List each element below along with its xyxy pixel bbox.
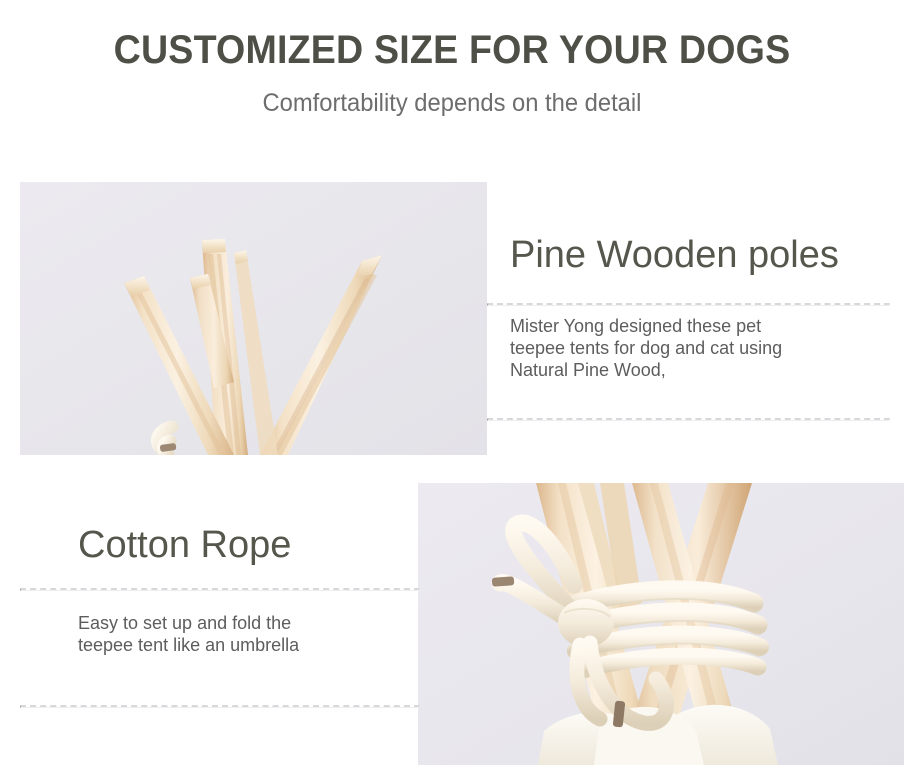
divider-pine-bottom xyxy=(487,418,890,421)
cotton-rope-knot-photo xyxy=(418,483,904,765)
header: CUSTOMIZED SIZE FOR YOUR DOGS Comfortabi… xyxy=(0,0,904,118)
cotton-rope-illustration xyxy=(418,483,904,765)
section-heading-rope: Cotton Rope xyxy=(78,522,418,568)
divider-rope-top xyxy=(20,588,420,591)
section-body-rope: Easy to set up and fold the teepee tent … xyxy=(78,612,418,656)
divider-pine-top xyxy=(487,303,890,306)
section-body-wrap-pine: Mister Yong designed these pet teepee te… xyxy=(510,315,888,381)
section-pine-wooden-poles: Pine Wooden poles xyxy=(510,232,888,278)
divider-rope-bottom xyxy=(20,705,420,708)
pine-wooden-poles-photo xyxy=(20,182,487,455)
section-body-wrap-rope: Easy to set up and fold the teepee tent … xyxy=(78,612,418,656)
section-body-pine: Mister Yong designed these pet teepee te… xyxy=(510,315,888,381)
section-heading-pine: Pine Wooden poles xyxy=(510,232,888,278)
section-cotton-rope: Cotton Rope xyxy=(78,522,418,568)
page-title: CUSTOMIZED SIZE FOR YOUR DOGS xyxy=(27,0,877,74)
pine-poles-illustration xyxy=(20,182,487,455)
page-subtitle: Comfortability depends on the detail xyxy=(23,74,882,118)
